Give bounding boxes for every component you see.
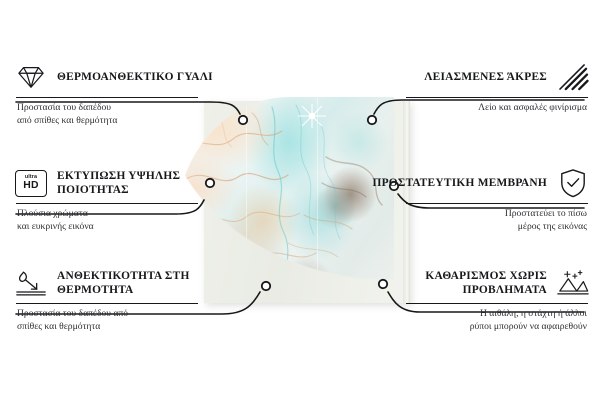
ultra-hd-icon: ultra HD <box>14 168 48 198</box>
shield-check-icon <box>556 168 590 198</box>
infographic-canvas: ΘΕΡΜΟΑΝΘΕΚΤΙΚΟ ΓΥΑΛΙ Προστασία του δαπέδ… <box>0 0 600 400</box>
feature-header: ΚΑΘΑΡΙΣΜΟΣ ΧΩΡΙΣ ΠΡΟΒΛΗΜΑΤΑ <box>360 266 590 300</box>
feature-description: Προστατεύει το πίσωμέρος της εικόνας <box>360 208 590 233</box>
feature-title: ΛΕΙΑΣΜΕΝΕΣ ΆΚΡΕΣ <box>424 70 547 84</box>
feature-description: Προστασία του δαπέδου απόσπίθες και θερμ… <box>14 308 244 333</box>
panel-seam <box>317 97 318 304</box>
feature-title: ΘΕΡΜΟΑΝΘΕΚΤΙΚΟ ΓΥΑΛΙ <box>57 70 213 84</box>
feature-smoothed-edges: ΛΕΙΑΣΜΕΝΕΣ ΆΚΡΕΣ Λείο και ασφαλές φινίρι… <box>360 60 590 115</box>
sparkle-clean-icon <box>556 268 590 298</box>
feature-heat-durability: ΑΝΘΕΚΤΙΚΟΤΗΤΑ ΣΤΗ ΘΕΡΜΟΤΗΤΑ Προστασία το… <box>14 266 244 333</box>
feature-header: ultra HD ΕΚΤΥΠΩΣΗ ΥΨΗΛΗΣ ΠΟΙΟΤΗΤΑΣ <box>14 166 244 200</box>
feature-divider <box>406 203 588 204</box>
feature-description: Προστασία του δαπέδουαπό σπίθες και θερμ… <box>14 102 244 127</box>
feature-header: ΘΕΡΜΟΑΝΘΕΚΤΙΚΟ ΓΥΑΛΙ <box>14 60 244 94</box>
diagonal-stripes-icon <box>556 62 590 92</box>
feature-divider <box>16 97 198 98</box>
feature-divider <box>406 303 588 304</box>
feature-trouble-free-cleaning: ΚΑΘΑΡΙΣΜΟΣ ΧΩΡΙΣ ΠΡΟΒΛΗΜΑΤΑ Η αιθάλη, η … <box>360 266 590 333</box>
feature-protective-membrane: ΠΡΟΣΤΑΤΕΥΤΙΚΗ ΜΕΜΒΡΑΝΗ Προστατεύει το πί… <box>360 166 590 233</box>
feature-title: ΑΝΘΕΚΤΙΚΟΤΗΤΑ ΣΤΗ ΘΕΡΜΟΤΗΤΑ <box>57 269 244 297</box>
feature-title: ΚΑΘΑΡΙΣΜΟΣ ΧΩΡΙΣ ΠΡΟΒΛΗΜΑΤΑ <box>360 269 547 297</box>
feature-divider <box>16 203 198 204</box>
ultra-hd-icon-hd-label: HD <box>23 181 38 191</box>
panel-seam <box>246 97 247 304</box>
feature-description: Λείο και ασφαλές φινίρισμα <box>360 102 590 115</box>
feature-high-quality-print: ultra HD ΕΚΤΥΠΩΣΗ ΥΨΗΛΗΣ ΠΟΙΟΤΗΤΑΣ Πλούσ… <box>14 166 244 233</box>
feature-description: Η αιθάλη, η στάχτη ή άλλοιρύποι μπορούν … <box>360 308 590 333</box>
feature-header: ΠΡΟΣΤΑΤΕΥΤΙΚΗ ΜΕΜΒΡΑΝΗ <box>360 166 590 200</box>
feature-divider <box>406 97 588 98</box>
feature-divider <box>16 303 198 304</box>
feature-heat-resistant-glass: ΘΕΡΜΟΑΝΘΕΚΤΙΚΟ ΓΥΑΛΙ Προστασία του δαπέδ… <box>14 60 244 127</box>
feature-header: ΛΕΙΑΣΜΕΝΕΣ ΆΚΡΕΣ <box>360 60 590 94</box>
feature-description: Πλούσια χρώματακαι ευκρινής εικόνα <box>14 208 244 233</box>
flame-deflect-icon <box>14 268 48 298</box>
diamond-icon <box>14 62 48 92</box>
feature-title: ΠΡΟΣΤΑΤΕΥΤΙΚΗ ΜΕΜΒΡΑΝΗ <box>372 176 547 190</box>
feature-title: ΕΚΤΥΠΩΣΗ ΥΨΗΛΗΣ ΠΟΙΟΤΗΤΑΣ <box>57 169 244 197</box>
feature-header: ΑΝΘΕΚΤΙΚΟΤΗΤΑ ΣΤΗ ΘΕΡΜΟΤΗΤΑ <box>14 266 244 300</box>
